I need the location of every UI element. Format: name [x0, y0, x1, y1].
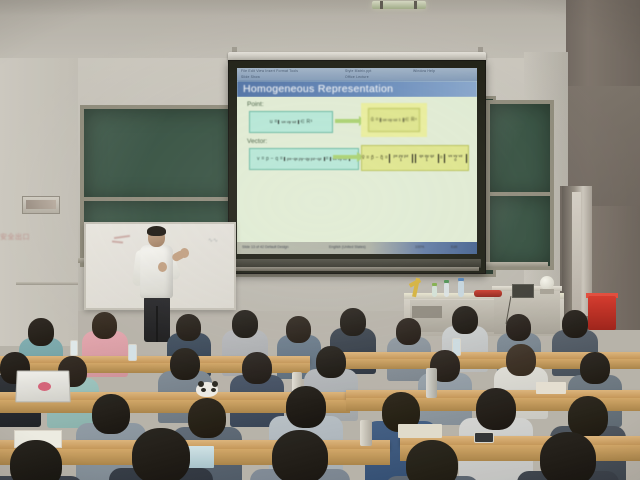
- student-water-bottle: [70, 340, 78, 356]
- student-head: [506, 344, 536, 376]
- doorway-light: [572, 192, 581, 310]
- ceiling-light-fixture: [372, 1, 426, 9]
- point-source-matrix: ux uy uz: [278, 120, 299, 125]
- student-head: [28, 318, 54, 346]
- panda-ear: [198, 381, 204, 387]
- panda-eye: [201, 388, 206, 392]
- student-head: [286, 386, 326, 428]
- point-source-formula: u =: [270, 119, 278, 125]
- vector-target-matrix-1: px py pz 1: [389, 154, 413, 163]
- desk-green-bottle: [432, 286, 437, 297]
- laptop-sticker: [38, 382, 51, 391]
- chalkboard-left-upper: [80, 105, 240, 205]
- teacher-desk-shelf: [412, 306, 442, 318]
- wall-rail: [16, 282, 78, 285]
- desk-monitor[interactable]: [512, 284, 534, 298]
- desk-globe-lamp: [540, 276, 554, 290]
- arrow-vector: [333, 155, 357, 159]
- student-head: [340, 308, 366, 336]
- student-head: [272, 430, 328, 480]
- student-head: [132, 428, 190, 480]
- student-head: [562, 310, 588, 338]
- slide-menubar: File Edit View Insert Format Tools Style…: [237, 68, 477, 81]
- student-head: [540, 432, 596, 480]
- student-head: [188, 398, 226, 438]
- lecturer-hair: [147, 226, 166, 236]
- lecturer-torso: [140, 245, 173, 298]
- projected-slide: File Edit View Insert Format Tools Style…: [237, 68, 477, 254]
- wall-control-box-face: [26, 200, 56, 209]
- statusbar-zoom: 100%: [415, 245, 424, 249]
- menubar-left-sub: Slide Show: [241, 75, 260, 79]
- red-stool: [588, 296, 616, 330]
- wall-control-box[interactable]: [22, 196, 60, 214]
- menubar-right-text: Window Help: [413, 69, 435, 73]
- vector-target-matrix-3: vx vy vz 0: [444, 154, 467, 163]
- point-target-box: ũ = ux uy uz 1 ∈ R⁴: [368, 108, 420, 132]
- slide-label-vector: Vector:: [247, 138, 267, 145]
- student-head: [452, 306, 478, 334]
- vector-target-eq: =: [440, 155, 443, 161]
- slide-label-point: Point:: [247, 101, 264, 108]
- point-source-box: u = ux uy uz ∈ R³: [249, 111, 333, 133]
- slide-statusbar: Slide 13 of 42 Default Design English (U…: [237, 242, 477, 254]
- projection-screen: File Edit View Insert Format Tools Style…: [228, 60, 486, 274]
- whiteboard-scribble: ∿∿: [208, 238, 246, 256]
- student-thermos: [426, 368, 437, 398]
- student-head: [406, 440, 458, 480]
- vector-source-matrix: px−qx py−qy pz−qz: [284, 157, 325, 162]
- student-head: [232, 310, 258, 338]
- lecturer-hand-right: [180, 248, 189, 258]
- chalkboard-right-lower: [486, 192, 554, 270]
- whiteboard-mark: [114, 235, 130, 239]
- menubar-center-text: Style Matrix.ppt: [345, 69, 372, 73]
- menubar-left-text: File Edit View Insert Format Tools: [241, 69, 298, 73]
- vector-source-box: v = p − q = px−qx py−qy pz−qz = vx vy vz: [249, 148, 359, 170]
- ceiling-shadow: [0, 0, 640, 16]
- statusbar-left: Slide 13 of 42 Default Design: [242, 245, 289, 249]
- chalkboard-right-upper: [486, 100, 554, 200]
- desk-blue-can: [458, 281, 464, 297]
- student-thermos: [360, 420, 372, 446]
- chalk-rail-right: [484, 262, 548, 267]
- student-head: [170, 348, 200, 380]
- desk-red-case: [474, 290, 502, 297]
- statusbar-center: English (United States): [329, 245, 366, 249]
- point-target-prefix: ũ =: [371, 117, 379, 123]
- wall-red-text: 安全出口: [0, 232, 60, 246]
- slide-body: Point: Vector: u = ux uy uz ∈ R³ ũ = ux …: [237, 97, 477, 242]
- student-notebook: [398, 424, 442, 438]
- student-head: [92, 394, 130, 434]
- panda-eye: [211, 388, 216, 392]
- vector-target-prefix: ṽ = p̃ − q̃ =: [362, 155, 388, 161]
- lecturer-hand-left: [158, 262, 167, 272]
- desk-lamp-base: [540, 289, 554, 294]
- vector-source-formula: v = p − q =: [257, 156, 283, 162]
- student-head: [176, 314, 201, 341]
- vector-target-box: ṽ = p̃ − q̃ = px py pz 1 qx qy qz 1 = vx…: [361, 145, 469, 171]
- student-water-bottle: [128, 344, 137, 361]
- desk-water-bottle: [444, 283, 449, 297]
- vector-source-eq: =: [326, 156, 329, 162]
- arrow-point: [335, 119, 359, 123]
- student-head: [476, 388, 516, 430]
- lecture-hall-photo: 安全出口 File Edit View Insert Format Tools …: [0, 0, 640, 480]
- screen-weight-bar: [235, 267, 479, 271]
- student-phone: [474, 432, 494, 443]
- point-target-panel: ũ = ux uy uz 1 ∈ R⁴: [361, 103, 427, 137]
- point-source-suffix: ∈ R³: [300, 119, 312, 125]
- whiteboard-mark: [112, 240, 123, 243]
- point-target-suffix: ∈ R⁴: [405, 117, 417, 123]
- student-head: [506, 314, 531, 341]
- lecturer-leg-gap: [156, 306, 158, 342]
- point-target-matrix: ux uy uz 1: [380, 118, 404, 123]
- student-head: [396, 318, 421, 345]
- panda-ear: [212, 381, 218, 387]
- student-head: [286, 316, 311, 343]
- student-head: [316, 346, 346, 378]
- student-head: [92, 312, 117, 339]
- statusbar-mode: Edit: [451, 245, 457, 249]
- menubar-center-sub: Office Lecture: [345, 75, 369, 79]
- student-head: [10, 440, 62, 480]
- student-notebook: [536, 382, 566, 394]
- student-head: [580, 352, 610, 384]
- vector-target-matrix-2: qx qy qz 1: [415, 154, 439, 163]
- student-head: [242, 352, 272, 384]
- slide-title: Homogeneous Representation: [237, 81, 477, 97]
